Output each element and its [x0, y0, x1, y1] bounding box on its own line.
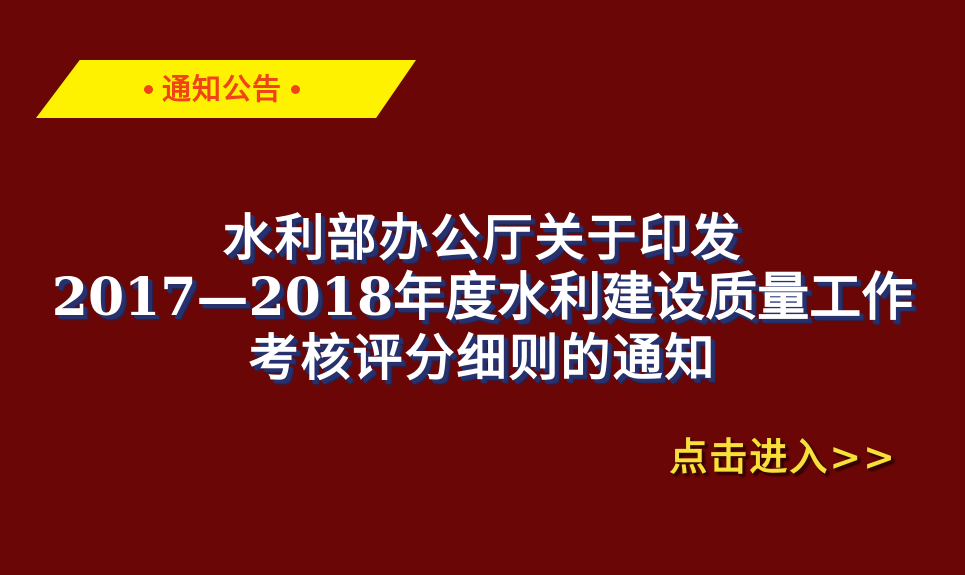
notice-poster: 通知公告 水利部办公厅关于印发 2017—2018年度水利建设质量工作 考核评分…: [0, 0, 965, 575]
notice-category-banner: 通知公告: [36, 60, 416, 118]
click-to-enter-link[interactable]: 点击进入>>: [669, 434, 897, 480]
notice-title-line-1: 水利部办公厅关于印发: [0, 208, 965, 268]
banner-left-dot-icon: [144, 85, 153, 94]
banner-label: 通知公告: [162, 75, 282, 104]
banner-content: 通知公告: [144, 75, 300, 104]
notice-title: 水利部办公厅关于印发 2017—2018年度水利建设质量工作 考核评分细则的通知: [0, 208, 965, 388]
banner-right-dot-icon: [291, 85, 300, 94]
notice-title-line-3: 考核评分细则的通知: [0, 328, 965, 388]
notice-title-line-2: 2017—2018年度水利建设质量工作: [0, 268, 965, 328]
